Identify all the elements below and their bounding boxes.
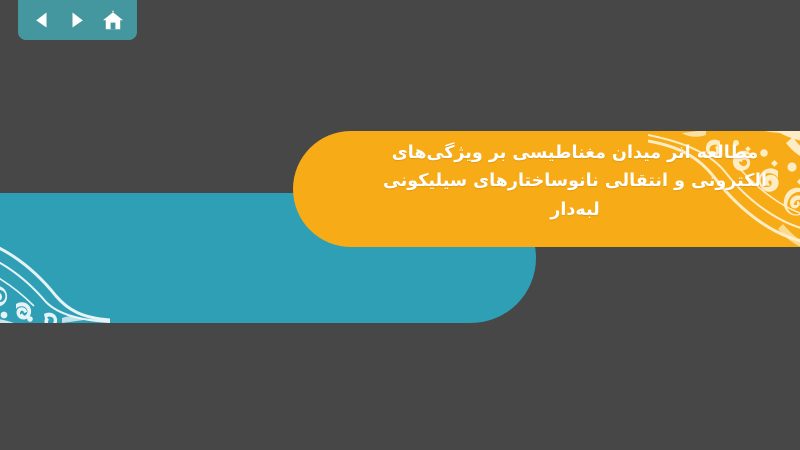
title-banner: مطالعه اثر میدان مغناطیسی بر ویژگی‌های ا…	[293, 131, 800, 247]
triangle-right-icon	[66, 9, 88, 31]
triangle-left-icon	[31, 9, 53, 31]
forward-button[interactable]	[62, 5, 92, 35]
arabesque-ornament-teal	[0, 218, 110, 323]
navigation-toolbar	[18, 0, 137, 40]
home-button[interactable]	[98, 5, 128, 35]
back-button[interactable]	[27, 5, 57, 35]
title-line-1: مطالعه اثر میدان مغناطیسی بر ویژگی‌های	[365, 139, 785, 167]
home-icon	[101, 8, 125, 32]
slide-title: مطالعه اثر میدان مغناطیسی بر ویژگی‌های ا…	[365, 139, 785, 224]
slide-canvas: مطالعه اثر میدان مغناطیسی بر ویژگی‌های ا…	[0, 0, 800, 450]
title-line-3: لبه‌دار	[365, 196, 785, 224]
title-line-2: الکترونی و انتقالی نانوساختارهای سیلیکون…	[365, 167, 785, 195]
